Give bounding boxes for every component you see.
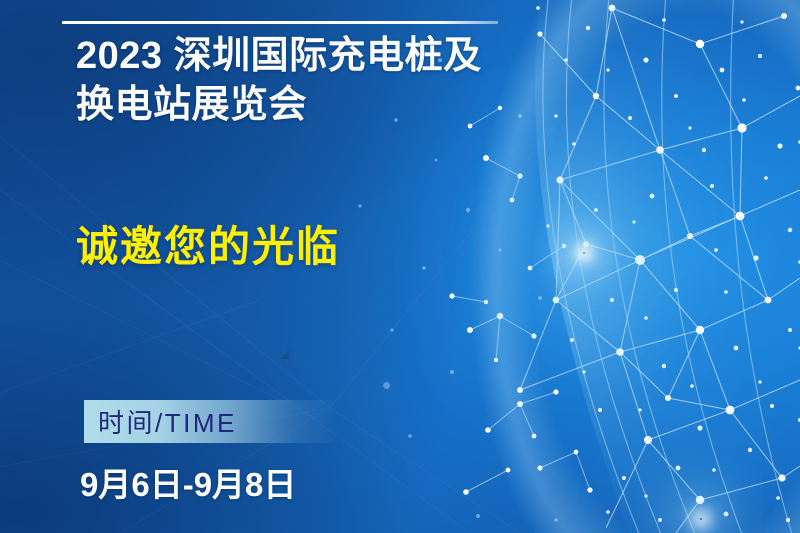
top-divider-rule (62, 21, 498, 24)
exhibition-banner: 2023 深圳国际充电桩及 换电站展览会 诚邀您的光临 时间/TIME 9月6日… (0, 0, 800, 533)
banner-title: 2023 深圳国际充电桩及 换电站展览会 (76, 32, 546, 129)
banner-title-line-2: 换电站展览会 (76, 81, 546, 130)
globe-glow-light (583, 252, 585, 254)
globe-glow-light-lower (700, 518, 702, 520)
time-label: 时间/TIME (98, 403, 237, 440)
banner-title-line-1: 2023 深圳国际充电桩及 (76, 32, 546, 81)
invitation-text: 诚邀您的光临 (76, 213, 340, 274)
decorative-triangle (280, 350, 289, 359)
decorative-dot (383, 382, 390, 389)
time-label-bar: 时间/TIME (84, 400, 339, 443)
event-date: 9月6日-9月8日 (80, 458, 296, 506)
